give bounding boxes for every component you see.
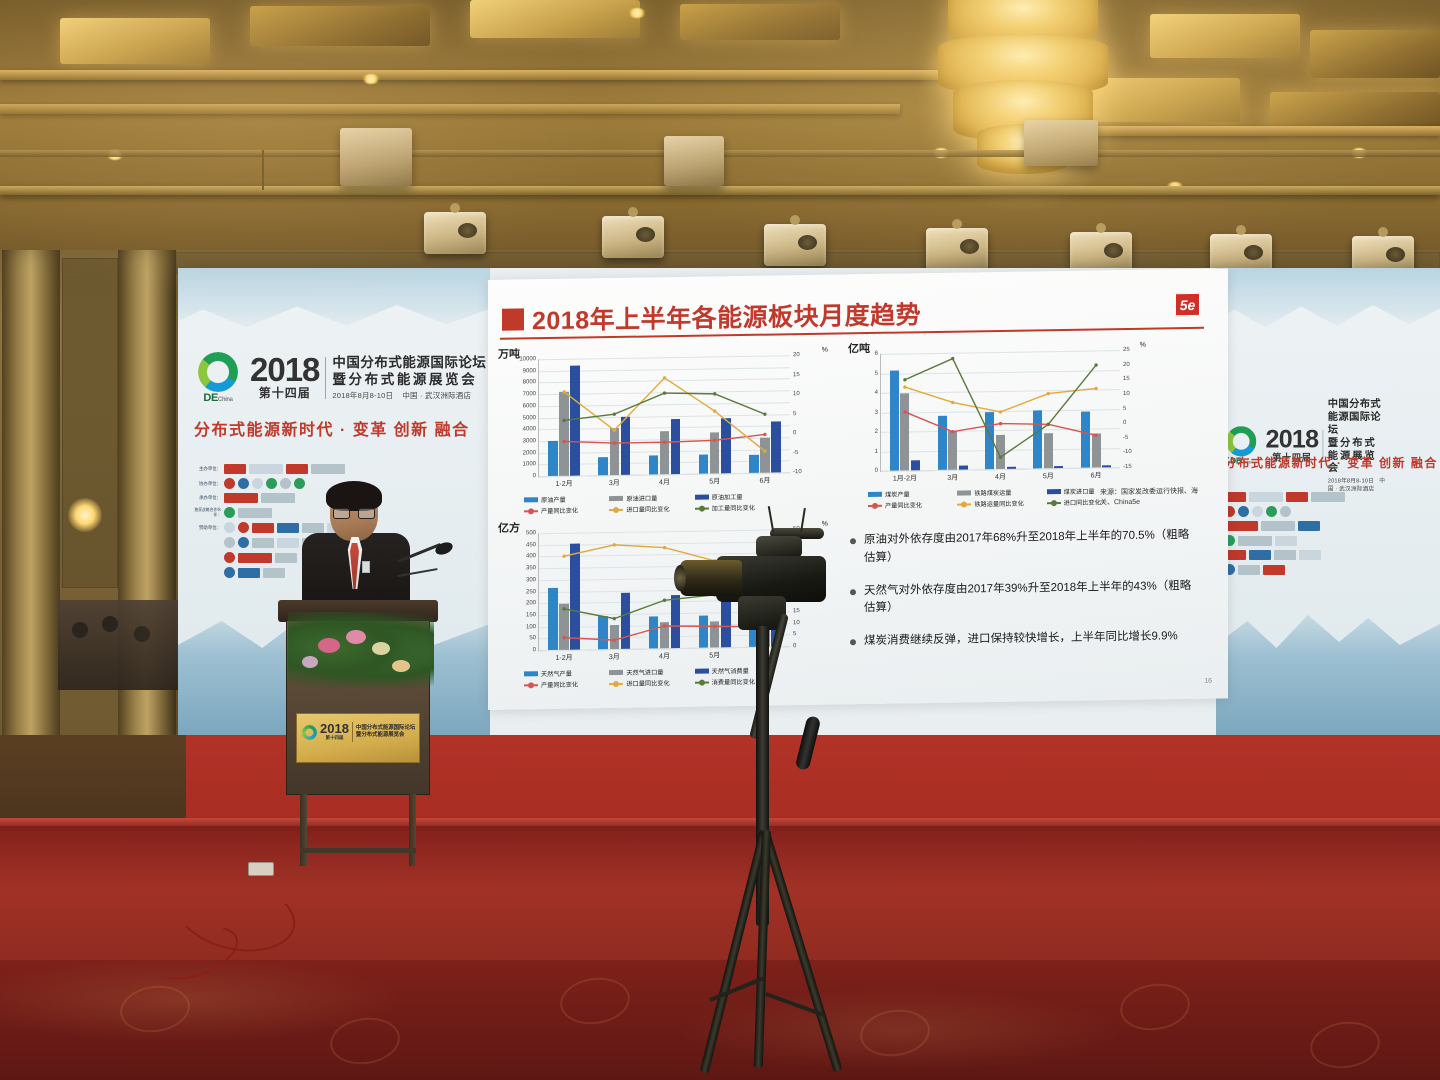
gridline [881,370,1120,375]
y-axis-tick: 0 [533,473,536,479]
bar-天然气消费量 [570,543,580,650]
ceiling-speaker-box [664,136,724,186]
camera-hood [756,536,802,558]
x-axis-tick: 3月 [947,473,958,483]
flower-arrangement [288,612,434,690]
bar-煤炭进口量 [1007,467,1016,469]
y-axis-tick: 5 [875,370,878,376]
bar-煤炭进口量 [911,460,920,470]
wall-column [118,250,176,770]
x-axis-tick: 3月 [609,478,620,488]
banner-date: 2018年8月8-10日 [1328,477,1374,484]
ceiling-coffer [1310,30,1440,78]
y2-axis-tick: 0 [1123,420,1126,426]
y-axis-tick: 400 [526,554,536,560]
legend-swatch [868,492,882,497]
wall-panel [62,258,118,588]
lectern-title-line1: 中国分布式能源国际论坛 [356,725,415,732]
eyeglasses-icon [333,508,375,519]
title-bullet-square-icon [502,308,524,330]
y-axis-tick: 10000 [519,356,536,362]
y2-axis-tick: -5 [793,450,798,456]
legend-item: 产量同比变化 [524,679,603,689]
y-axis-tick: 300 [526,577,536,583]
y-axis-tick: 2000 [523,450,536,456]
y-axis-tick: 0 [533,647,536,653]
x-axis-tick: 5月 [1043,471,1054,481]
chart3-y2label: % [822,521,828,528]
bar-煤炭进口量 [959,465,968,469]
y-axis-tick: 50 [529,636,536,642]
y-axis-tick: 9000 [523,368,536,374]
lectern-year: 2018 [320,723,349,735]
x-axis-tick: 6月 [759,476,770,486]
bar-原油进口量 [610,428,620,475]
legend-swatch [609,496,623,501]
de-logo-subtext: China [218,397,233,403]
legend-swatch [524,671,538,676]
chart1-ylabel: 万吨 [498,345,520,361]
banner-slogan: 分布式能源新时代 · 变革 创新 融合 [1224,454,1438,471]
slide-number: 16 [1204,678,1212,685]
ceiling-speaker-box [1024,120,1098,166]
legend-label: 铁路煤炭运量 [974,488,1011,498]
ceiling-coffer [680,4,840,40]
y2-axis-tick: 10 [793,391,800,397]
legend-label: 进口量同比变化 [626,504,669,514]
y-axis-tick: 450 [526,542,536,548]
lectern-sign: 2018 第十四届 中国分布式能源国际论坛 暨分布式能源展览会 [296,713,420,763]
legend-swatch [1047,502,1061,504]
legend-swatch [524,684,538,686]
legend-item: 加工量同比变化 [695,503,774,513]
banner-date: 2018年8月8-10日 [332,391,393,400]
x-axis-tick: 5月 [709,476,720,486]
ceiling-downlight [362,74,380,84]
chart2-ylabel: 亿吨 [848,340,870,356]
line-产量同比变化 [905,409,1096,438]
legend-swatch [609,508,623,510]
y-axis-tick: 3 [875,409,878,415]
legend-label: 产量同比变化 [541,506,578,516]
x-axis-tick: 1-2月 [556,653,573,663]
video-camera-tripod [620,530,920,1080]
chart3-ylabel: 亿方 [498,519,520,535]
legend-swatch [524,510,538,512]
legend-item: 铁路煤炭运量 [957,487,1040,497]
y-axis-tick: 5000 [523,415,536,421]
legend-item: 进口量同比变化 [609,504,688,514]
y2-axis-tick: -10 [1123,449,1132,455]
x-axis-tick: 6月 [1091,470,1102,480]
y-axis-tick: 250 [526,589,536,595]
legend-item: 原油产量 [524,494,603,504]
bar-原油加工量 [771,422,781,473]
y2-axis-tick: -15 [1123,464,1132,470]
legend-item: 原油加工量 [695,492,774,502]
gridline [881,350,1120,355]
legend-swatch [957,490,971,495]
legend-label: 产量同比变化 [885,500,922,510]
bar-原油加工量 [671,419,681,474]
sponsor-row-label: 独家战略合作伙伴： [194,508,221,518]
stage-spotlight [424,212,486,254]
slide-title: 2018年上半年各能源板块月度趋势 [532,295,921,337]
lighting-truss [0,186,1440,195]
legend-label: 天然气产量 [541,669,572,678]
legend-item: 铁路运量同比变化 [957,498,1040,508]
bar-煤炭产量 [938,416,947,470]
y2-axis-tick: 15 [1123,376,1130,382]
y-axis-tick: 500 [526,530,536,536]
chart2-y2label: % [1140,342,1146,349]
banner-title-line1: 中国分布式能源国际论坛 [1328,398,1389,436]
bar-铁路煤炭运量 [1044,433,1053,468]
bar-煤炭产量 [1081,411,1090,467]
y-axis-tick: 200 [526,600,536,606]
y2-axis-tick: 20 [793,352,800,358]
camera-lens [680,560,742,596]
sponsor-logo-wall [1224,492,1434,579]
banner-year: 2018 [250,355,319,385]
legend-label: 原油产量 [541,495,566,504]
y-axis-tick: 4 [875,390,878,396]
bar-原油加工量 [570,366,580,476]
conference-stage-photo: DEChina 2018 第十四届 中国分布式能源国际论坛 暨分布式能源展览会 … [0,0,1440,1080]
bar-煤炭产量 [985,412,994,469]
sponsor-row-label: 承办单位： [194,495,221,501]
y-axis-tick: 350 [526,565,536,571]
bar-原油进口量 [559,392,569,476]
y2-axis-tick: 5 [793,411,796,417]
legend-item: 天然气产量 [524,668,603,678]
bar-铁路煤炭运量 [948,431,957,470]
lectern-title-line2: 暨分布式能源展览会 [356,732,415,739]
bar-原油产量 [749,454,759,473]
ceiling-coffer [60,18,210,64]
bar-煤炭产量 [1033,411,1042,469]
legend-swatch [695,495,709,500]
y2-axis-tick: 0 [793,430,796,436]
china5e-logo: 5e [1175,293,1200,316]
ceiling-beam [0,70,950,80]
chart-coal: 亿吨 % 0123456-15-10-505101520251月-2月3月4月5… [848,335,1168,490]
banner-slogan: 分布式能源新时代 · 变革 创新 融合 [194,416,470,440]
x-axis-tick: 4月 [995,472,1006,482]
wall-column [2,250,60,770]
de-china-logo-icon [198,352,238,392]
legend-label: 原油加工量 [712,492,743,501]
y2-axis-tick: 20 [1123,362,1130,368]
legend-swatch [1047,489,1061,494]
bar-原油进口量 [660,431,670,474]
floor-power-box [248,862,274,876]
y-axis-tick: 7000 [523,391,536,397]
stage-spotlight [926,228,988,270]
y-axis-tick: 150 [526,612,536,618]
audience-area [58,600,178,690]
legend-swatch [695,507,709,509]
legend-label: 原油进口量 [626,493,657,502]
legend-label: 进口同比变化 [1064,497,1101,507]
banner-year: 2018 [1266,428,1319,451]
legend-item: 产量同比变化 [524,505,603,515]
x-axis-tick: 1-2月 [556,479,573,489]
y-axis-tick: 3000 [523,438,536,444]
bar-天然气产量 [598,616,608,649]
tripod-leg [760,829,842,1073]
bar-铁路煤炭运量 [900,393,909,470]
gridline [539,355,790,360]
banner-title-line1: 中国分布式能源国际论坛 [332,355,486,372]
source-note: 来源：国家发改委运行快报、海关、China5e [1100,487,1200,508]
bar-原油加工量 [621,417,631,475]
legend-label: 加工量同比变化 [712,503,755,513]
y2-axis-tick: -10 [793,469,802,475]
bar-天然气进口量 [610,625,620,649]
x-axis-tick: 1月-2月 [893,473,917,483]
bar-原油产量 [649,456,659,475]
bar-煤炭进口量 [1102,466,1111,468]
y2-axis-tick: 25 [1123,347,1130,353]
bar-原油产量 [548,441,558,476]
bar-煤炭产量 [890,370,899,471]
y-axis-tick: 100 [526,624,536,630]
wall-sconce-light [68,498,102,532]
gridline [881,389,1120,394]
de-china-logo-icon [302,725,317,740]
bar-天然气进口量 [559,604,569,650]
bar-煤炭进口量 [1054,466,1063,468]
banner-place: 中国 · 武汉洲际酒店 [402,391,471,400]
legend-swatch [868,504,882,506]
y-axis-tick: 0 [875,468,878,474]
ceiling-beam [0,104,900,114]
lectern-edition: 第十四届 [325,735,343,741]
ceiling-coffer [470,0,640,38]
name-badge [362,561,370,573]
y-axis-tick: 4000 [523,426,536,432]
y-axis-tick: 6 [875,351,878,357]
bar-原油产量 [598,457,608,475]
y-axis-tick: 1 [875,448,878,454]
chart1-y2label: % [822,347,828,354]
x-axis-tick: 4月 [659,477,670,487]
legend-item: 产量同比变化 [868,500,951,510]
bar-原油进口量 [710,432,720,473]
bar-天然气产量 [548,588,558,650]
y-axis-tick: 8000 [523,380,536,386]
sponsor-row-label: 主办单位： [194,466,221,472]
y-axis-tick: 2 [875,429,878,435]
chart-crude-oil: 万吨 % 01000200030004000500060007000800090… [498,341,828,496]
tripod-pan-grip[interactable] [795,715,822,771]
legend-label: 煤炭产量 [885,489,910,498]
bar-原油进口量 [760,437,770,472]
legend-item: 原油进口量 [609,493,688,503]
bar-原油加工量 [721,418,731,473]
y2-axis-tick: -5 [1123,435,1128,441]
ceiling-speaker-box [340,128,412,186]
ceiling-coffer [1150,14,1300,58]
legend-swatch [957,503,971,505]
sponsor-row-label: 赞助单位： [194,525,221,531]
legend-label: 铁路运量同比变化 [974,499,1024,509]
stage-spotlight [602,216,664,258]
bar-原油产量 [699,455,709,474]
de-logo-text: DE [203,392,217,404]
x-axis-tick: 3月 [609,652,620,662]
y2-axis-tick: 10 [1123,391,1130,397]
bar-铁路煤炭运量 [1092,434,1101,468]
banner-title-line2: 暨分布式能源展览会 [332,372,486,389]
legend-swatch [524,497,538,502]
banner-edition: 第十四届 [259,384,311,401]
stage-spotlight [764,224,826,266]
y2-axis-tick: 15 [793,372,800,378]
light-hanger-wire [262,150,264,190]
y-axis-tick: 6000 [523,403,536,409]
legend-label: 煤炭进口量 [1064,486,1095,495]
de-china-logo-icon [1226,426,1256,456]
backdrop-banner-right: DEChina 2018 第十四届 中国分布式能源国际论坛 暨分布式能源展览会 … [1216,268,1440,738]
sponsor-row-label: 协办单位： [194,481,221,487]
ceiling-coffer [250,6,430,46]
legend-item: 煤炭产量 [868,489,951,499]
bar-铁路煤炭运量 [996,435,1005,469]
ceiling-downlight [628,8,646,18]
y2-axis-tick: 5 [1123,405,1126,411]
y-axis-tick: 1000 [523,462,536,468]
legend-label: 产量同比变化 [541,680,578,690]
